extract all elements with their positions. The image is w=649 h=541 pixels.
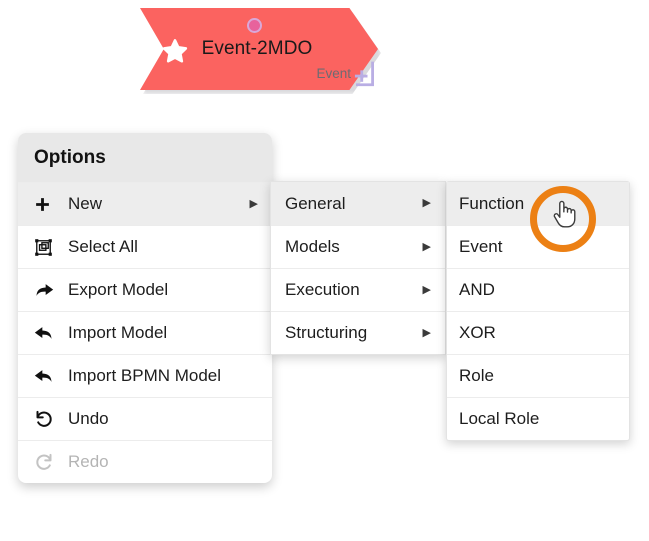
- submenu-item-and[interactable]: AND: [447, 268, 629, 311]
- submenu-item-function-label: Function: [459, 194, 619, 214]
- submenu-item-xor-label: XOR: [459, 323, 619, 343]
- event-node[interactable]: Event-2MDO Event: [140, 8, 378, 90]
- export-icon: [34, 280, 60, 300]
- submenu-item-models[interactable]: Models ▶: [271, 225, 445, 268]
- submenu-item-structuring-label: Structuring: [285, 323, 423, 343]
- anchor-dot-icon[interactable]: [247, 18, 262, 33]
- submenu-item-local-role[interactable]: Local Role: [447, 397, 629, 440]
- submenu-item-execution-label: Execution: [285, 280, 423, 300]
- menu-item-undo-label: Undo: [68, 409, 262, 429]
- submenu-general-elements[interactable]: Function Event AND XOR Role Local Role: [446, 181, 630, 441]
- import-icon: [34, 323, 60, 343]
- plus-icon: [34, 196, 60, 213]
- chevron-right-icon: ▶: [423, 285, 435, 296]
- resize-handle-icon[interactable]: [352, 60, 378, 90]
- menu-item-new-label: New: [68, 194, 250, 214]
- menu-item-undo[interactable]: Undo: [18, 397, 272, 440]
- chevron-right-icon: ▶: [250, 199, 262, 210]
- submenu-item-role-label: Role: [459, 366, 619, 386]
- menu-item-import-model[interactable]: Import Model: [18, 311, 272, 354]
- menu-item-redo-label: Redo: [68, 452, 262, 472]
- submenu-new-categories[interactable]: General ▶ Models ▶ Execution ▶ Structuri…: [270, 181, 446, 355]
- submenu-item-models-label: Models: [285, 237, 423, 257]
- submenu-item-xor[interactable]: XOR: [447, 311, 629, 354]
- import-icon: [34, 366, 60, 386]
- menu-item-select-all-label: Select All: [68, 237, 262, 257]
- menu-item-import-bpmn-model[interactable]: Import BPMN Model: [18, 354, 272, 397]
- menu-item-new[interactable]: New ▶: [18, 182, 272, 225]
- submenu-item-execution[interactable]: Execution ▶: [271, 268, 445, 311]
- chevron-right-icon: ▶: [423, 328, 435, 339]
- menu-item-export-model[interactable]: Export Model: [18, 268, 272, 311]
- context-menu-title: Options: [18, 133, 272, 182]
- menu-item-export-model-label: Export Model: [68, 280, 262, 300]
- submenu-item-structuring[interactable]: Structuring ▶: [271, 311, 445, 354]
- chevron-right-icon: ▶: [423, 242, 435, 253]
- event-node-sublabel: Event: [316, 66, 351, 81]
- undo-icon: [34, 409, 60, 429]
- submenu-item-general[interactable]: General ▶: [271, 182, 445, 225]
- chevron-right-icon: ▶: [423, 198, 435, 209]
- context-menu-options[interactable]: Options New ▶ Select All: [18, 133, 272, 483]
- submenu-item-event[interactable]: Event: [447, 225, 629, 268]
- select-all-icon: [34, 238, 60, 257]
- menu-item-import-bpmn-model-label: Import BPMN Model: [68, 366, 262, 386]
- submenu-item-general-label: General: [285, 194, 423, 214]
- submenu-item-event-label: Event: [459, 237, 619, 257]
- menu-item-redo[interactable]: Redo: [18, 440, 272, 483]
- submenu-item-role[interactable]: Role: [447, 354, 629, 397]
- submenu-item-and-label: AND: [459, 280, 619, 300]
- submenu-item-local-role-label: Local Role: [459, 409, 619, 429]
- redo-icon: [34, 452, 60, 472]
- menu-item-import-model-label: Import Model: [68, 323, 262, 343]
- menu-item-select-all[interactable]: Select All: [18, 225, 272, 268]
- submenu-item-function[interactable]: Function: [447, 182, 629, 225]
